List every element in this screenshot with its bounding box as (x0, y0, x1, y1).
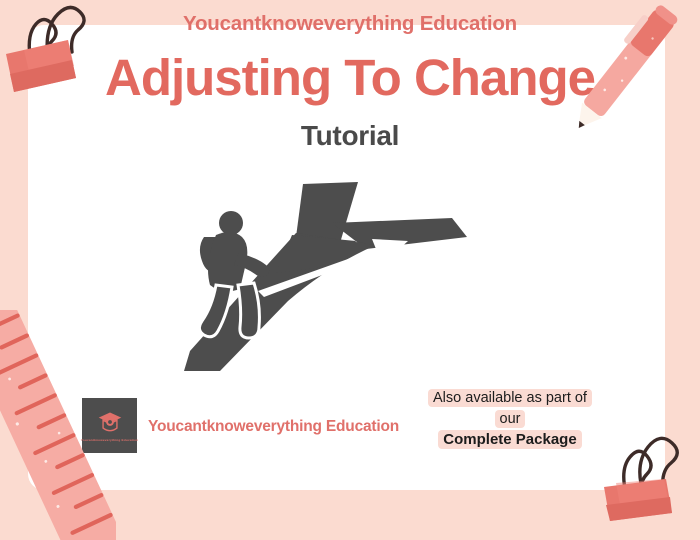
person-walking-forked-road-arrow-icon (180, 175, 470, 380)
graduation-cap-icon (97, 409, 123, 435)
footer-brand-text: Youcantknoweverything Education (148, 418, 399, 436)
footer-logo: Youcantknoweverything Education (82, 398, 137, 453)
hero-illustration (180, 175, 470, 380)
promo-line-2: Complete Package (438, 430, 581, 449)
promo-line-1: Also available as part of our (428, 389, 592, 428)
page-subtitle: Tutorial (0, 120, 700, 152)
page-title: Adjusting To Change (0, 48, 700, 107)
promo-badge: Also available as part of our Complete P… (420, 388, 600, 450)
footer-logo-caption: Youcantknoweverything Education (81, 438, 139, 442)
brand-header: Youcantknoweverything Education (0, 12, 700, 36)
